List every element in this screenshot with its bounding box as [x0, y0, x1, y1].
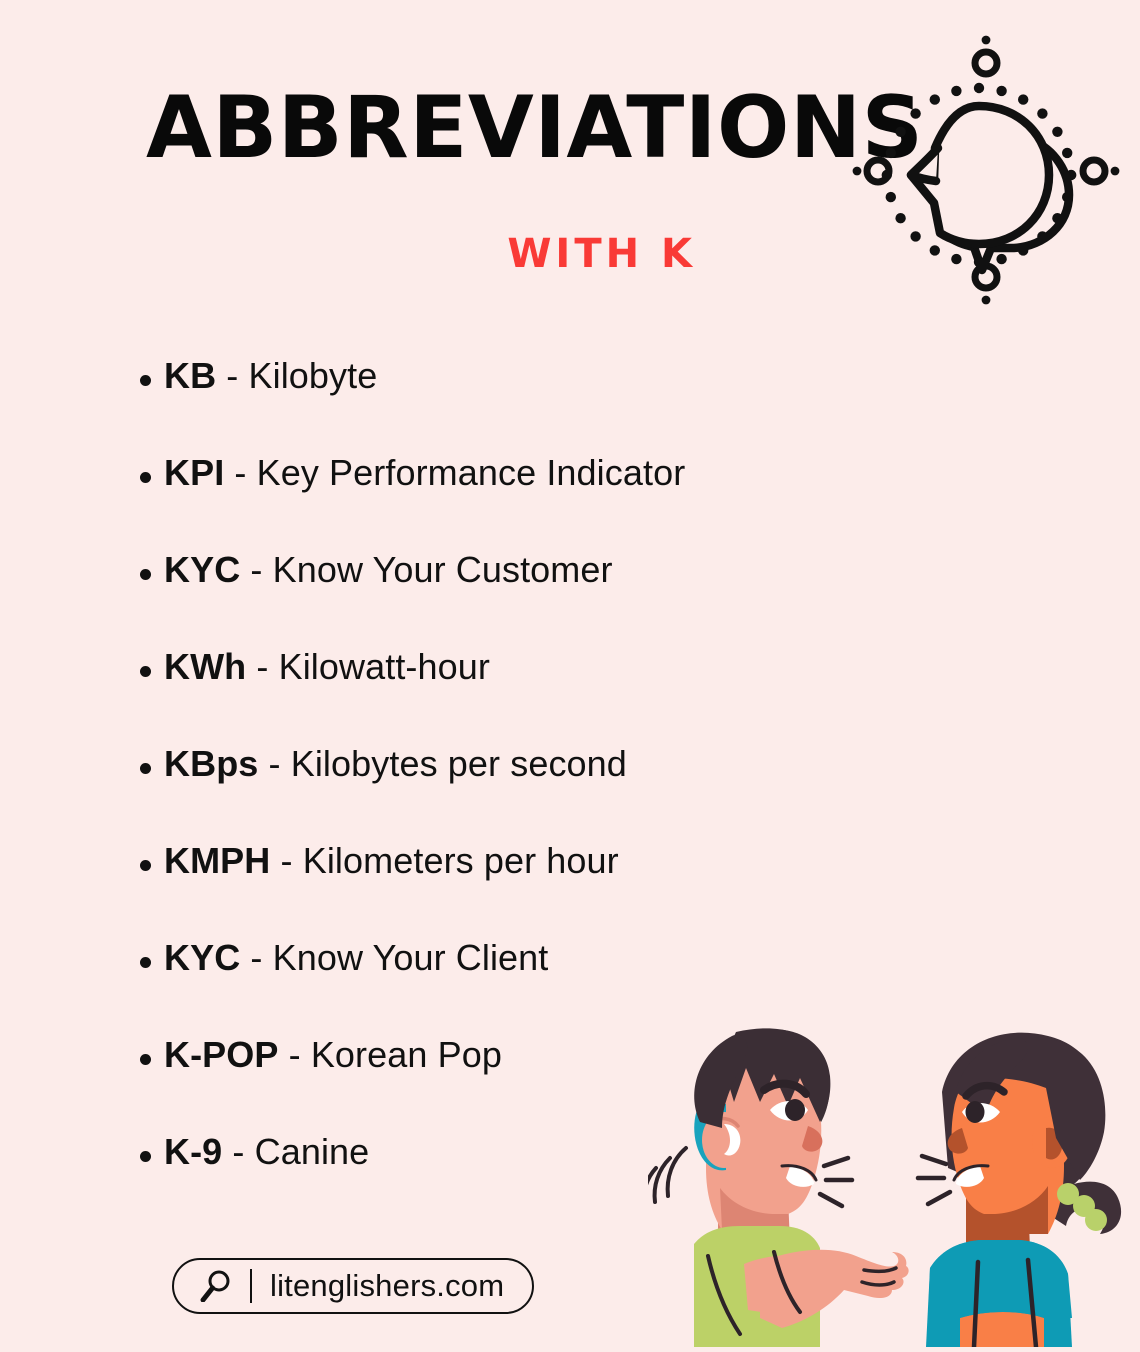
- bullet-icon: [140, 569, 164, 580]
- list-item: KWh - Kilowatt-hour: [140, 649, 1000, 746]
- search-icon: [200, 1270, 230, 1302]
- speech-bubbles-icon: [836, 32, 1122, 318]
- list-item-text: KYC - Know Your Client: [164, 940, 548, 976]
- abbreviation: KB: [164, 355, 216, 396]
- bullet-icon: [140, 666, 164, 677]
- separator: -: [240, 549, 272, 590]
- abbreviation: K-POP: [164, 1034, 279, 1075]
- separator: -: [216, 355, 248, 396]
- bullet-icon: [140, 957, 164, 968]
- list-item: KPI - Key Performance Indicator: [140, 455, 1000, 552]
- bullet-icon: [140, 375, 164, 386]
- list-item-text: KPI - Key Performance Indicator: [164, 455, 685, 491]
- site-badge[interactable]: litenglishers.com: [172, 1258, 534, 1314]
- abbreviation: K-9: [164, 1131, 222, 1172]
- list-item: KMPH - Kilometers per hour: [140, 843, 1000, 940]
- expansion: Kilobyte: [249, 355, 378, 396]
- separator: -: [222, 1131, 254, 1172]
- separator: -: [246, 646, 278, 687]
- expansion: Key Performance Indicator: [257, 452, 686, 493]
- list-item: KBps - Kilobytes per second: [140, 746, 1000, 843]
- separator: -: [270, 840, 302, 881]
- expansion: Canine: [255, 1131, 370, 1172]
- expansion: Kilowatt-hour: [279, 646, 490, 687]
- separator: -: [258, 743, 290, 784]
- abbreviation: KPI: [164, 452, 224, 493]
- list-item-text: KBps - Kilobytes per second: [164, 746, 627, 782]
- expansion: Kilometers per hour: [303, 840, 619, 881]
- expansion: Know Your Customer: [273, 549, 613, 590]
- list-item-text: K-9 - Canine: [164, 1134, 369, 1170]
- list-item: KB - Kilobyte: [140, 358, 1000, 455]
- bullet-icon: [140, 763, 164, 774]
- expansion: Kilobytes per second: [291, 743, 627, 784]
- abbreviation: KYC: [164, 937, 240, 978]
- expansion: Know Your Client: [273, 937, 549, 978]
- abbreviation: KYC: [164, 549, 240, 590]
- poster-canvas: ABBREVIATIONS WITH K: [0, 0, 1140, 1347]
- abbreviation: KMPH: [164, 840, 270, 881]
- header: ABBREVIATIONS WITH K: [146, 92, 698, 274]
- list-item-text: K-POP - Korean Pop: [164, 1037, 502, 1073]
- list-item: KYC - Know Your Customer: [140, 552, 1000, 649]
- bullet-icon: [140, 1151, 164, 1162]
- list-item-text: KYC - Know Your Customer: [164, 552, 613, 588]
- list-item-text: KB - Kilobyte: [164, 358, 377, 394]
- bullet-icon: [140, 860, 164, 871]
- page-subtitle: WITH K: [146, 166, 698, 274]
- abbreviation: KWh: [164, 646, 246, 687]
- abbreviation: KBps: [164, 743, 258, 784]
- two-kids-talking-illustration: [648, 1018, 1140, 1347]
- list-item-text: KWh - Kilowatt-hour: [164, 649, 490, 685]
- list-item-text: KMPH - Kilometers per hour: [164, 843, 619, 879]
- separator: -: [224, 452, 256, 493]
- page-title: ABBREVIATIONS: [146, 92, 692, 166]
- badge-divider: [250, 1269, 252, 1303]
- separator: -: [279, 1034, 311, 1075]
- expansion: Korean Pop: [311, 1034, 502, 1075]
- bullet-icon: [140, 1054, 164, 1065]
- bullet-icon: [140, 472, 164, 483]
- site-name: litenglishers.com: [270, 1268, 504, 1304]
- separator: -: [240, 937, 272, 978]
